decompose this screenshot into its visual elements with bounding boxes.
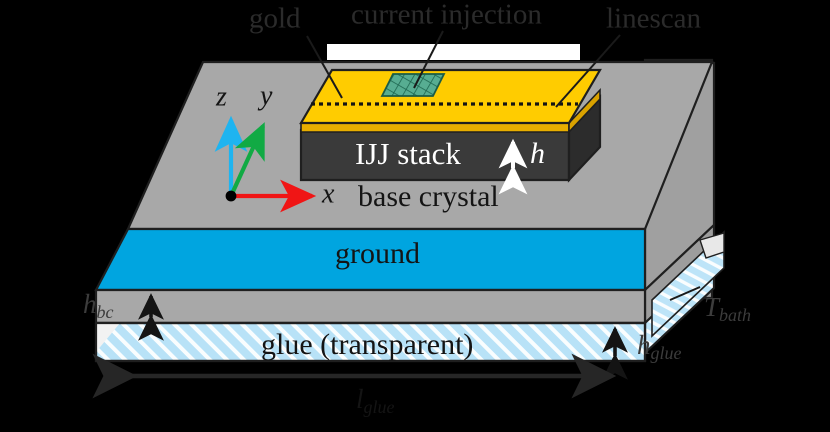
- callout-gold: gold: [249, 3, 301, 35]
- h-bc-symbol: h: [83, 289, 97, 319]
- base-crystal-label: base crystal: [358, 180, 499, 213]
- t-bath-subscript: bath: [719, 305, 751, 325]
- l-glue-symbol: l: [356, 384, 364, 414]
- ground-label: ground: [335, 237, 420, 270]
- current-injection-patch: [382, 74, 444, 96]
- h-symbol: h: [530, 137, 545, 170]
- gold-top-face: [301, 70, 600, 123]
- gold-front-edge: [301, 123, 569, 132]
- axis-origin-dot: [226, 191, 237, 202]
- callout-linescan: linescan: [606, 3, 702, 35]
- h-glue-symbol: h: [637, 330, 651, 360]
- l-glue-subscript: glue: [364, 397, 395, 417]
- glue-label: glue (transparent): [261, 328, 473, 361]
- axis-label-y: y: [257, 80, 273, 111]
- figure-canvas: gold current injection linescan z y x IJ…: [0, 0, 830, 432]
- ijj-stack-label: IJJ stack: [355, 136, 461, 171]
- h-bc-subscript: bc: [97, 302, 114, 322]
- top-white-bar: [327, 44, 580, 60]
- axis-label-z: z: [215, 81, 227, 112]
- h-glue-subscript: glue: [651, 343, 682, 363]
- base-crystal-band: [96, 290, 645, 323]
- axis-label-x: x: [321, 178, 335, 209]
- callout-current-injection: current injection: [351, 0, 542, 31]
